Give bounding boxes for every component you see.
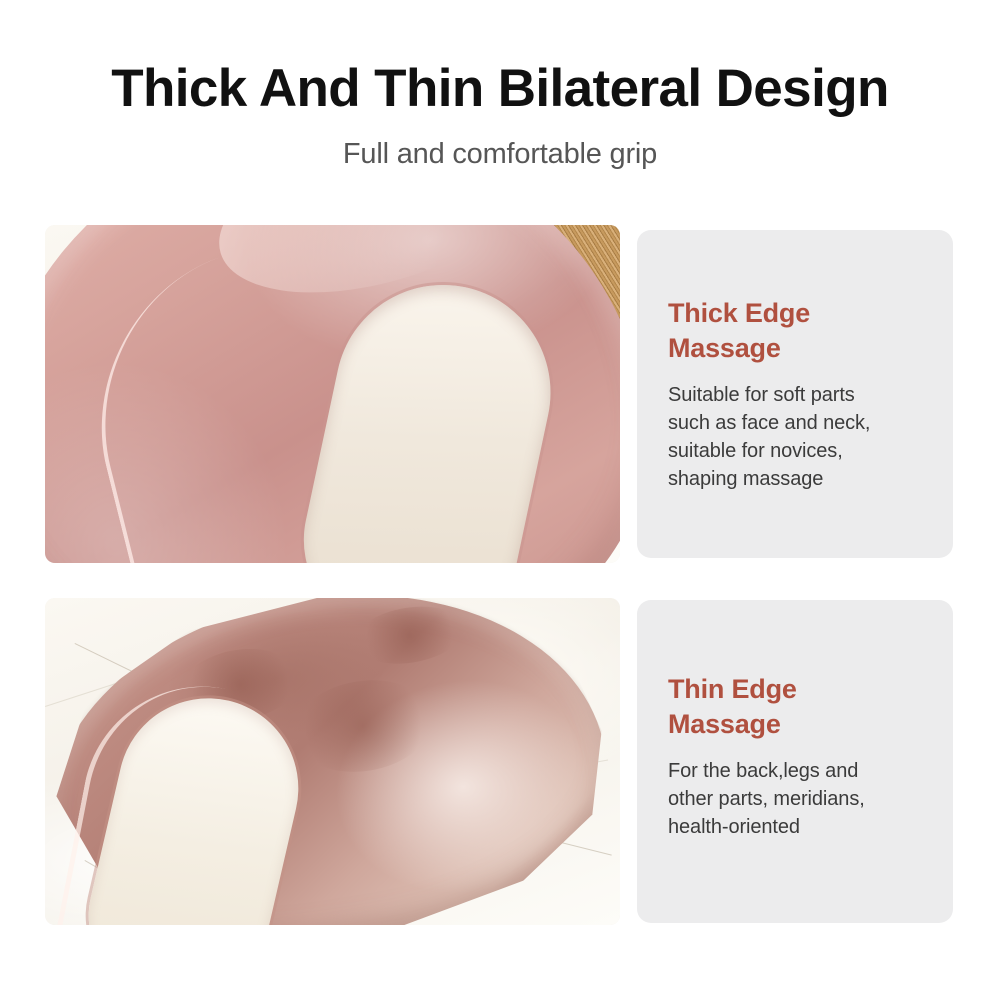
thin-edge-photo: [45, 598, 620, 925]
gua-sha-tool-thick-edge: [45, 225, 620, 563]
thick-edge-panel: Thick Edge Massage Suitable for soft par…: [637, 230, 953, 558]
feature-row-thick-edge: Thick Edge Massage Suitable for soft par…: [0, 225, 1000, 563]
thick-edge-photo: [45, 225, 620, 563]
page-title: Thick And Thin Bilateral Design: [0, 58, 1000, 120]
thick-edge-description: Suitable for soft parts such as face and…: [668, 381, 953, 493]
thin-edge-panel: Thin Edge Massage For the back,legs and …: [637, 600, 953, 923]
product-infographic: Thick And Thin Bilateral Design Full and…: [0, 0, 1000, 1000]
thick-edge-heading: Thick Edge Massage: [668, 296, 953, 366]
gua-sha-tool-thin-edge: [45, 598, 620, 925]
feature-row-thin-edge: Thin Edge Massage For the back,legs and …: [0, 598, 1000, 925]
thin-edge-heading: Thin Edge Massage: [668, 672, 953, 742]
page-subtitle: Full and comfortable grip: [0, 136, 1000, 172]
thin-edge-description: For the back,legs and other parts, merid…: [668, 757, 953, 841]
